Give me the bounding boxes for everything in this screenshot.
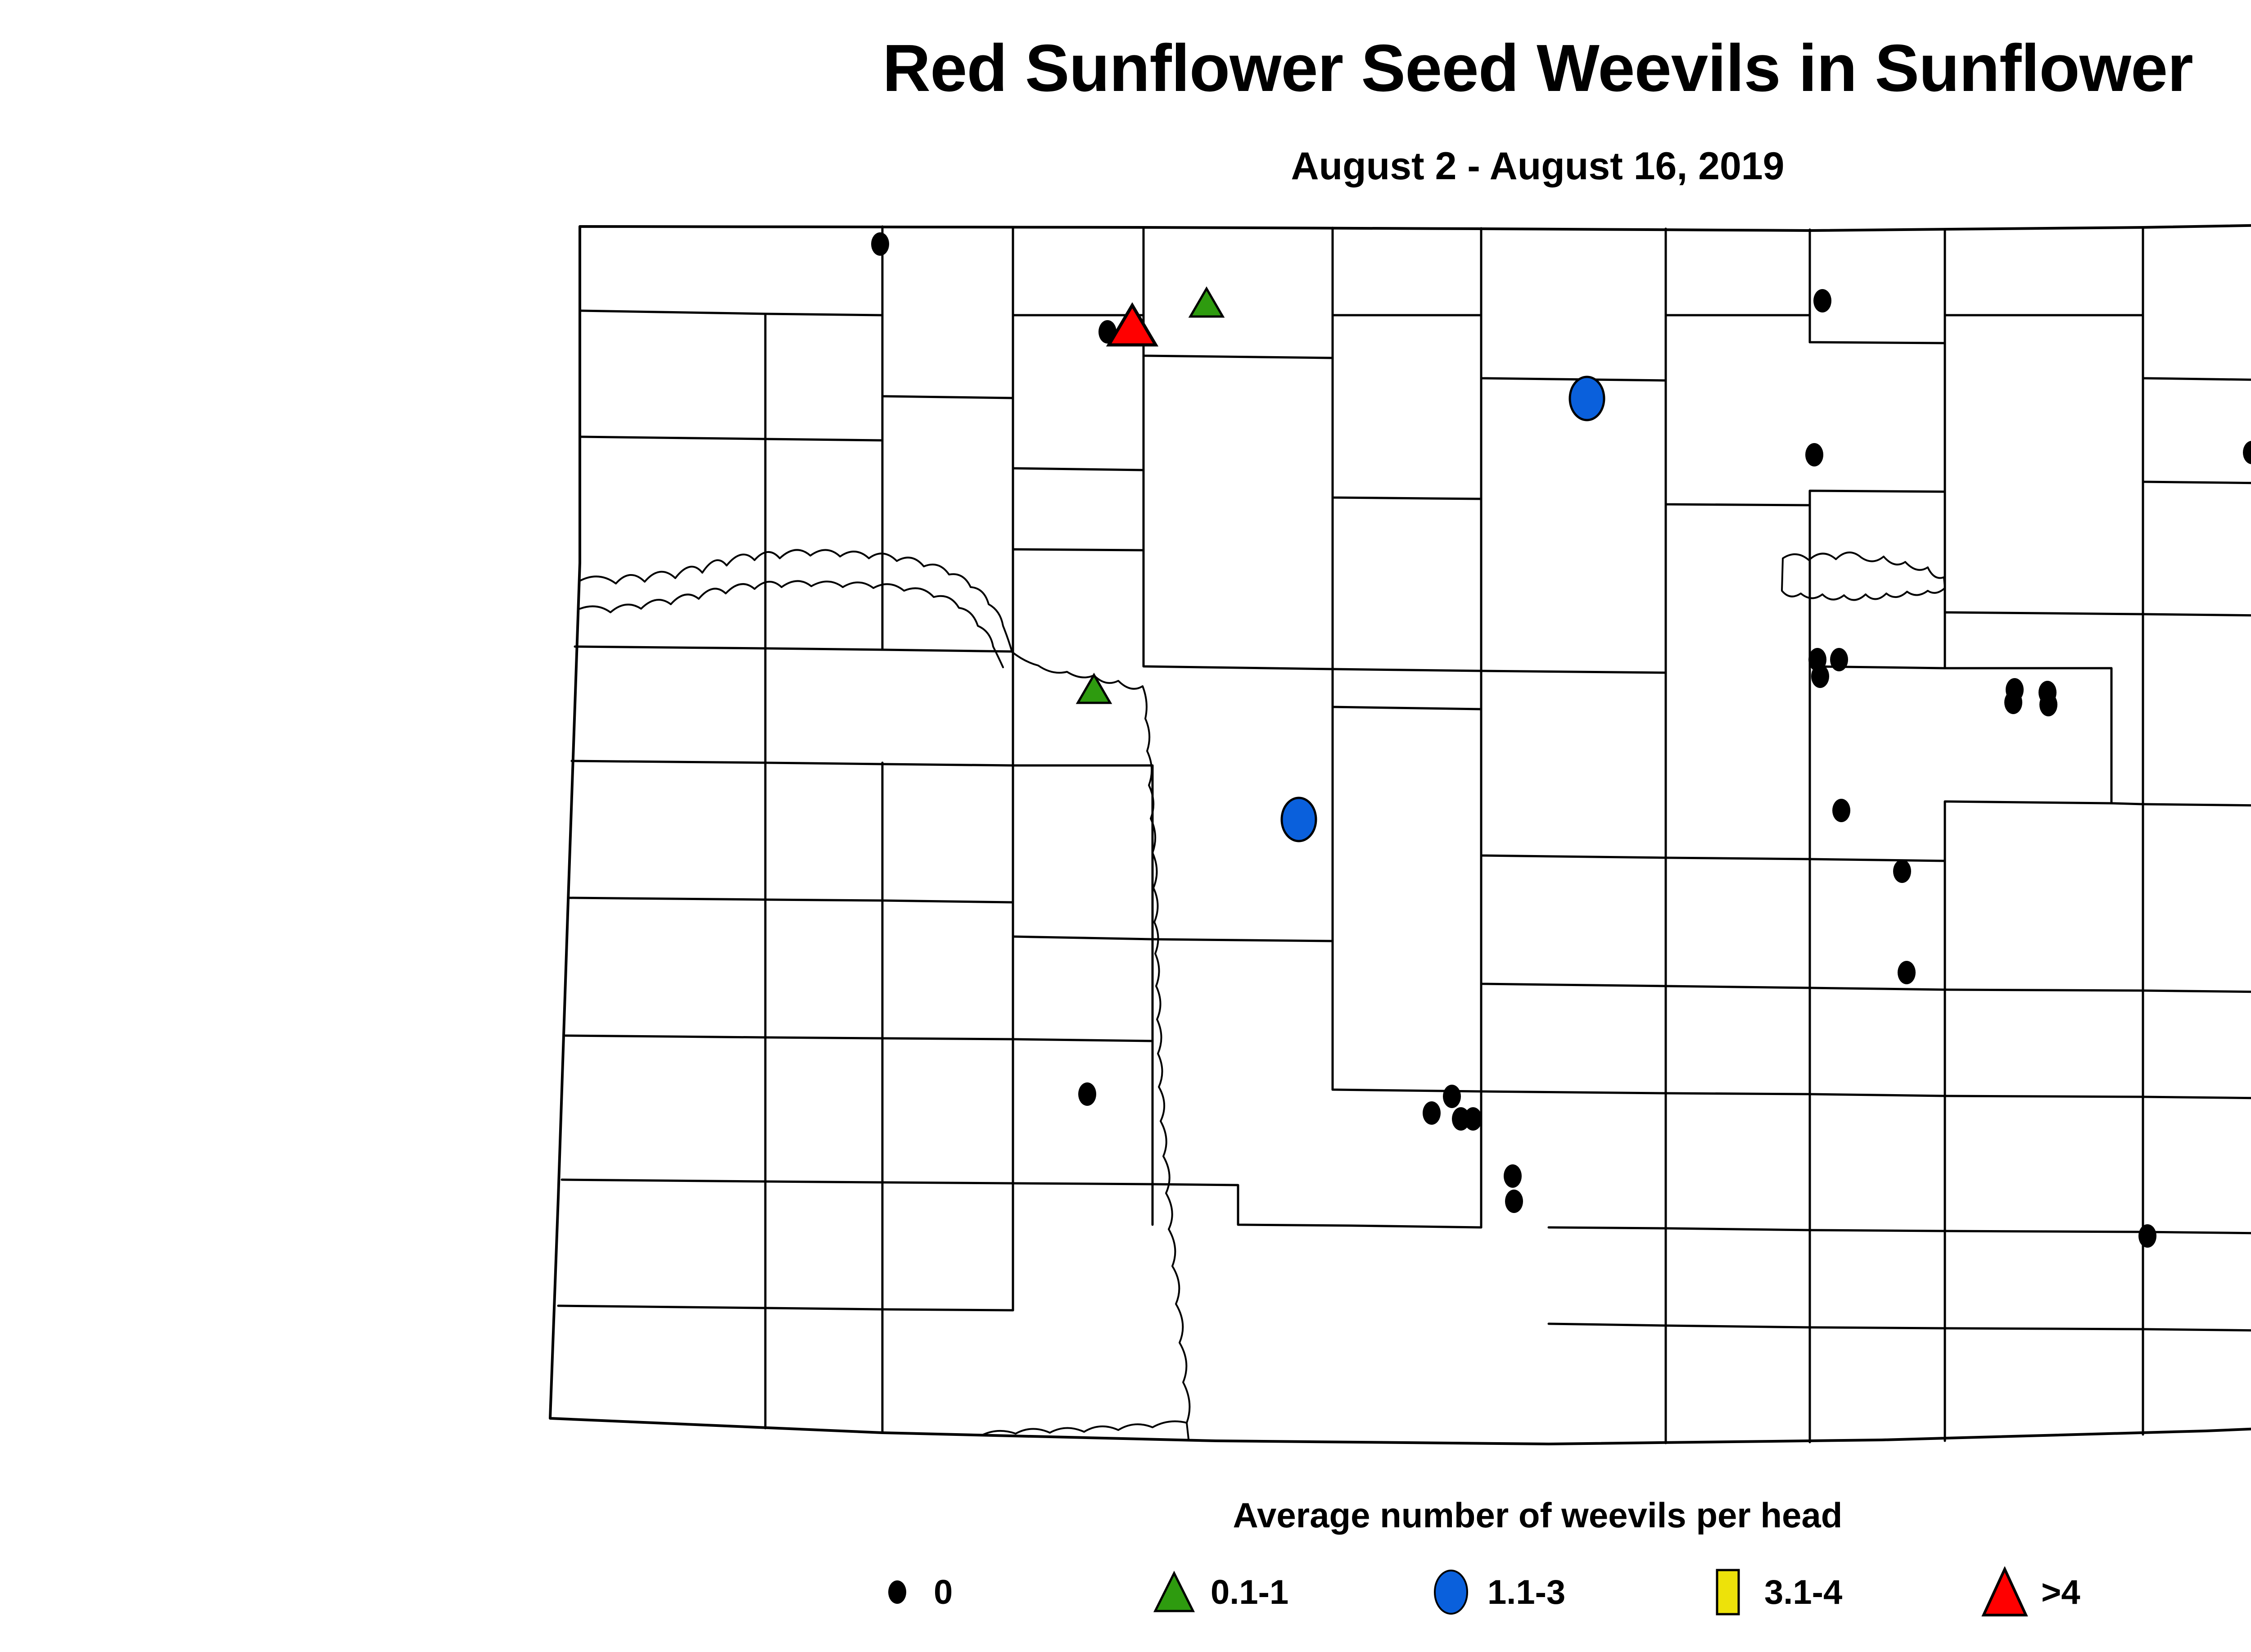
tier-line-4c (765, 652, 1013, 765)
tier-line-4g (1666, 666, 1810, 859)
tier-line-3d (1333, 499, 1481, 671)
map-data-point[interactable] (1078, 675, 1110, 703)
tier-line-2b (1013, 356, 1144, 470)
map-svg (486, 180, 2251, 1486)
tier-line-8f (1945, 1232, 2143, 1329)
legend-item-4[interactable]: >4 (1953, 1567, 2230, 1617)
map-data-point[interactable] (1504, 1164, 1522, 1188)
map-data-point[interactable] (1805, 443, 1823, 466)
tier-line-2d (1666, 343, 1945, 505)
map-data-point[interactable] (1464, 1107, 1482, 1131)
tier-line-6a (565, 1036, 1013, 1039)
legend-label-4: >4 (2041, 1573, 2080, 1612)
north-dakota-map[interactable] (486, 180, 2251, 1486)
tier-line-5j (2143, 806, 2251, 992)
devils-lake (1782, 552, 1945, 600)
tier-line-1b (1481, 315, 2251, 380)
legend-item-2[interactable]: 1.1-3 (1399, 1567, 1676, 1617)
state-outline (550, 222, 2251, 1444)
tier-line-4k (2143, 616, 2251, 806)
map-data-point[interactable] (1811, 665, 1829, 688)
tier-line-3f (1810, 505, 1945, 668)
tier-line-5d (1013, 765, 1153, 939)
tier-line-2c (1333, 358, 1481, 499)
map-data-point[interactable] (871, 232, 889, 256)
green-triangle-icon (1149, 1567, 1199, 1617)
map-data-point[interactable] (1505, 1190, 1523, 1213)
tier-line-8g (2143, 1234, 2251, 1331)
map-data-point[interactable] (1109, 305, 1156, 345)
lake-sakakawea-north (580, 550, 1012, 652)
county-boundaries (550, 222, 2251, 1444)
legend-label-3: 3.1-4 (1764, 1573, 1842, 1612)
red-triangle-icon (1980, 1567, 2030, 1617)
tier-line-7i (2143, 1099, 2251, 1234)
legend-label-2: 1.1-3 (1487, 1573, 1565, 1612)
tier-line-4a (572, 761, 765, 763)
map-data-point[interactable] (2039, 693, 2057, 716)
tier-line-3e (1481, 504, 1666, 673)
tier-line-3h (2143, 484, 2251, 616)
map-data-point[interactable] (1570, 377, 1604, 420)
map-data-point[interactable] (1443, 1085, 1461, 1108)
tier-line-1a (580, 311, 1481, 398)
tier-line-6f (1666, 988, 1810, 1094)
legend-item-0[interactable]: 0 (845, 1567, 1122, 1617)
map-data-point[interactable] (2243, 441, 2251, 464)
tier-line-4j (2111, 614, 2143, 804)
tier-line-2a (580, 396, 882, 440)
tier-line-7h (1945, 1097, 2143, 1232)
map-data-point[interactable] (1423, 1101, 1441, 1125)
blue-circle-icon (1426, 1567, 1476, 1617)
map-data-point[interactable] (1893, 860, 1911, 883)
legend-items: 0 0.1-1 1.1-3 3.1-4 (0, 1567, 2251, 1617)
tier-line-6c (1013, 939, 1153, 1041)
map-data-point[interactable] (2138, 1224, 2156, 1248)
map-data-point[interactable] (1898, 961, 1916, 984)
black-dot-icon (872, 1567, 922, 1617)
tier-line-6h (1945, 991, 2143, 1097)
yellow-square-icon (1703, 1567, 1753, 1617)
tier-line-5h (1810, 861, 1945, 990)
tier-line-4f (1481, 673, 1666, 858)
page-title: Red Sunflower Seed Weevils in Sunflower (0, 32, 2251, 104)
tier-line-3a (575, 647, 1013, 652)
tier-line-6d (1333, 941, 1481, 1091)
tier-line-7a (562, 1180, 1153, 1184)
tier-line-5c (882, 901, 1013, 902)
tier-line-6e (1481, 986, 1666, 1093)
tier-line-3c (1144, 498, 1333, 669)
tier-line-7e (1549, 1093, 1666, 1228)
tier-line-8d (1666, 1230, 1810, 1327)
tier-line-3b (1013, 549, 1144, 652)
lake-sakakawea-south (580, 581, 1003, 667)
legend-item-1[interactable]: 0.1-1 (1122, 1567, 1399, 1617)
missouri-river (1012, 652, 1189, 1439)
tier-line-4d (1013, 765, 1153, 939)
tier-line-4e (1333, 669, 1481, 709)
tier-line-5i (1945, 804, 2143, 991)
tier-line-3g (1945, 482, 2143, 668)
tier-line-5f (1481, 855, 1666, 986)
tier-line-7g (1810, 1096, 1945, 1231)
tier-line-6i (2143, 992, 2251, 1099)
tier-line-8c (1549, 1228, 1666, 1326)
map-data-point[interactable] (1078, 1082, 1096, 1106)
legend-title: Average number of weevils per head (0, 1495, 2251, 1536)
map-data-point[interactable] (1813, 289, 1831, 312)
tier-line-5a (569, 898, 882, 901)
legend-label-0: 0 (934, 1573, 953, 1612)
map-legend: Average number of weevils per head 0 0.1… (0, 1495, 2251, 1617)
map-data-point[interactable] (1282, 798, 1316, 841)
tier-line-7c (1153, 1184, 1351, 1226)
map-page: Red Sunflower Seed Weevils in Sunflower … (0, 0, 2251, 1652)
tier-line-6g (1810, 990, 1945, 1096)
tier-line-8e (1810, 1231, 1945, 1328)
map-data-point[interactable] (1832, 799, 1850, 822)
map-data-point[interactable] (1830, 648, 1848, 671)
legend-label-1: 0.1-1 (1211, 1573, 1288, 1612)
map-data-point[interactable] (1190, 289, 1223, 317)
tier-line-4i (1945, 668, 2111, 861)
tier-line-7f (1666, 1094, 1810, 1230)
tier-line-2e (2143, 378, 2251, 484)
tier-line-5g (1666, 859, 1810, 988)
tier-line-8a (558, 1306, 1013, 1310)
map-data-point[interactable] (2004, 691, 2022, 714)
cannonball-river (981, 1421, 1187, 1435)
tier-line-4h (1810, 859, 1945, 861)
legend-item-3[interactable]: 3.1-4 (1676, 1567, 1953, 1617)
